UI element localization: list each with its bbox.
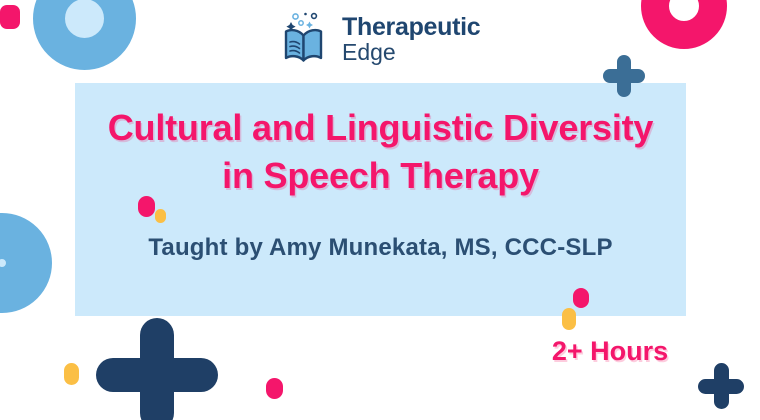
- brand-name-line1: Therapeutic: [342, 15, 480, 40]
- brand-logo[interactable]: Therapeutic Edge: [276, 8, 486, 70]
- pink-ring-top-right: [641, 0, 727, 49]
- yellow-dot-lower-left: [64, 363, 79, 385]
- yellow-dot-panel-bottom-right: [562, 308, 576, 330]
- navy-plus-bottom-left: [96, 318, 218, 420]
- yellow-dot-panel-top-left: [155, 209, 166, 223]
- promo-banner: Therapeutic Edge Cultural and Linguistic…: [0, 0, 760, 420]
- pink-dot-panel-top-left: [138, 196, 155, 217]
- brand-name-line2: Edge: [342, 41, 480, 64]
- pink-rounded-square-top-left: [0, 5, 20, 29]
- navy-plus-bottom-right: [698, 363, 744, 409]
- blue-ring-top-left: [33, 0, 136, 70]
- blue-ring-bottom-left: [0, 213, 52, 313]
- pink-dot-panel-bottom-right: [573, 288, 589, 308]
- page-title: Cultural and Linguistic Diversity in Spe…: [75, 104, 686, 199]
- duration-badge: 2+ Hours: [530, 336, 690, 367]
- open-book-sparkle-icon: [276, 11, 332, 67]
- blue-plus-top-right: [603, 55, 645, 97]
- pink-dot-bottom-center: [266, 378, 283, 399]
- presenter-credit: Taught by Amy Munekata, MS, CCC-SLP: [75, 234, 686, 262]
- brand-wordmark: Therapeutic Edge: [342, 15, 480, 64]
